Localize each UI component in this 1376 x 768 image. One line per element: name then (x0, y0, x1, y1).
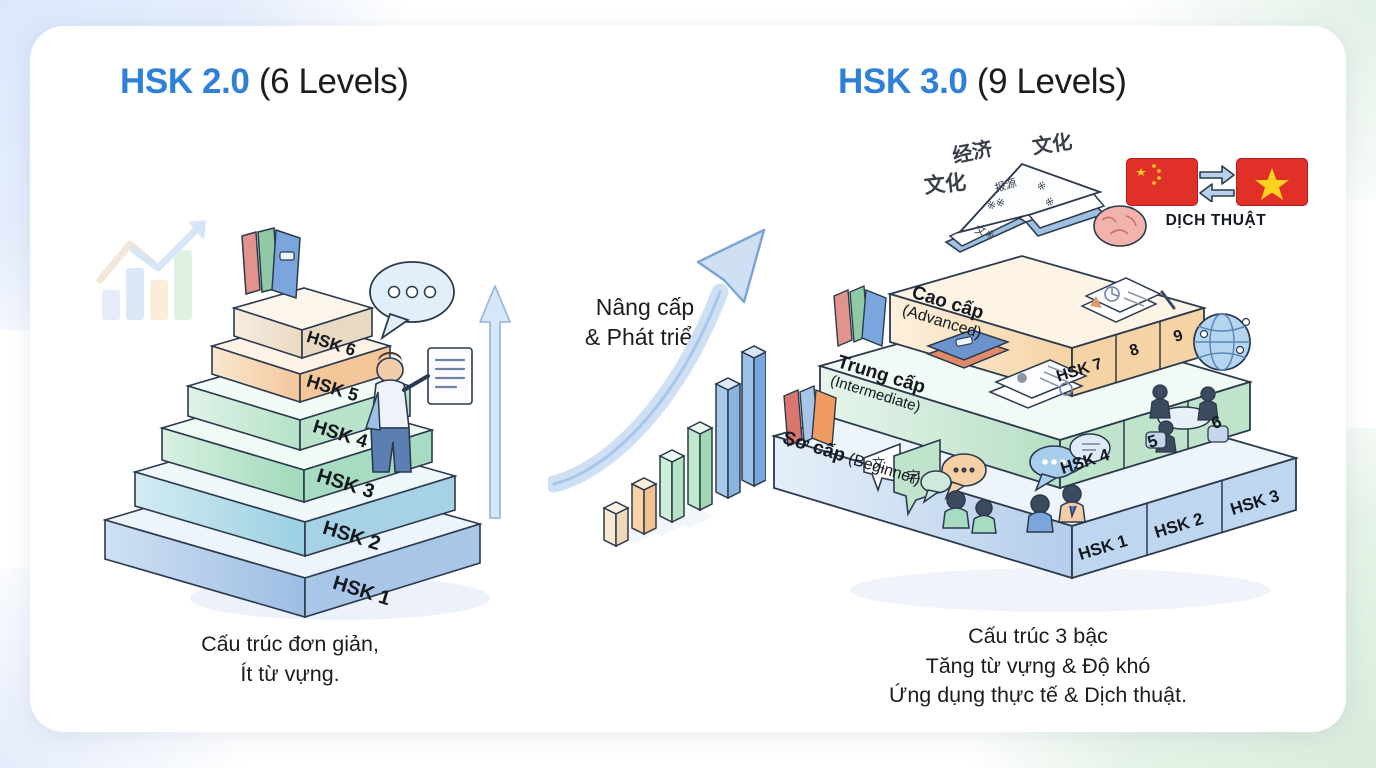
caption-right-line3: Ứng dụng thực tế & Dịch thuật. (838, 681, 1238, 711)
caption-left: Cấu trúc đơn giản, Ít từ vựng. (110, 630, 470, 689)
caption-left-line1: Cấu trúc đơn giản, (110, 630, 470, 660)
bar-3 (660, 450, 684, 522)
title-right-hsk: HSK 3.0 (838, 62, 967, 101)
books-stack-icon (242, 228, 300, 298)
translation-badge: DỊCH THUẬT (1118, 158, 1314, 244)
float-char-2: 文化 (1030, 125, 1074, 159)
books-stack-advanced-icon (834, 286, 886, 346)
title-left-levels: (6 Levels) (259, 62, 409, 101)
vietnam-flag-icon (1236, 158, 1308, 206)
caption-right-line1: Cấu trúc 3 bậc (838, 622, 1238, 652)
left-pyramid: HSK 1 HSK 2 HSK 3 HSK 4 HSK 5 HSK 6 (90, 180, 510, 620)
caption-right-line2: Tăng từ vựng & Độ khó (838, 652, 1238, 682)
bar-4 (688, 422, 712, 510)
title-right-levels: (9 Levels) (977, 62, 1127, 101)
two-way-arrows-icon (1198, 162, 1236, 202)
china-flag-icon (1126, 158, 1198, 206)
speech-bubble-icon (370, 262, 454, 338)
up-arrow-icon (478, 282, 512, 522)
open-book-icon: 报源 ※※ ※ ※ 文※ (946, 164, 1146, 252)
globe-icon (1194, 314, 1250, 370)
translation-badge-label: DỊCH THUẬT (1118, 212, 1314, 230)
page-title-right: HSK 3.0 (9 Levels) (838, 62, 1127, 102)
caption-left-line2: Ít từ vựng. (110, 660, 470, 690)
growth-bars-graphic (598, 318, 766, 550)
float-char-3: 文化 (923, 166, 968, 200)
bar-5 (716, 378, 740, 498)
page-title-left: HSK 2.0 (6 Levels) (120, 62, 409, 102)
bar-2 (632, 478, 656, 534)
bar-1 (604, 502, 628, 546)
left-pyramid-graphic (90, 180, 510, 620)
title-left-hsk: HSK 2.0 (120, 62, 249, 101)
caption-right: Cấu trúc 3 bậc Tăng từ vựng & Độ khó Ứng… (838, 622, 1238, 711)
